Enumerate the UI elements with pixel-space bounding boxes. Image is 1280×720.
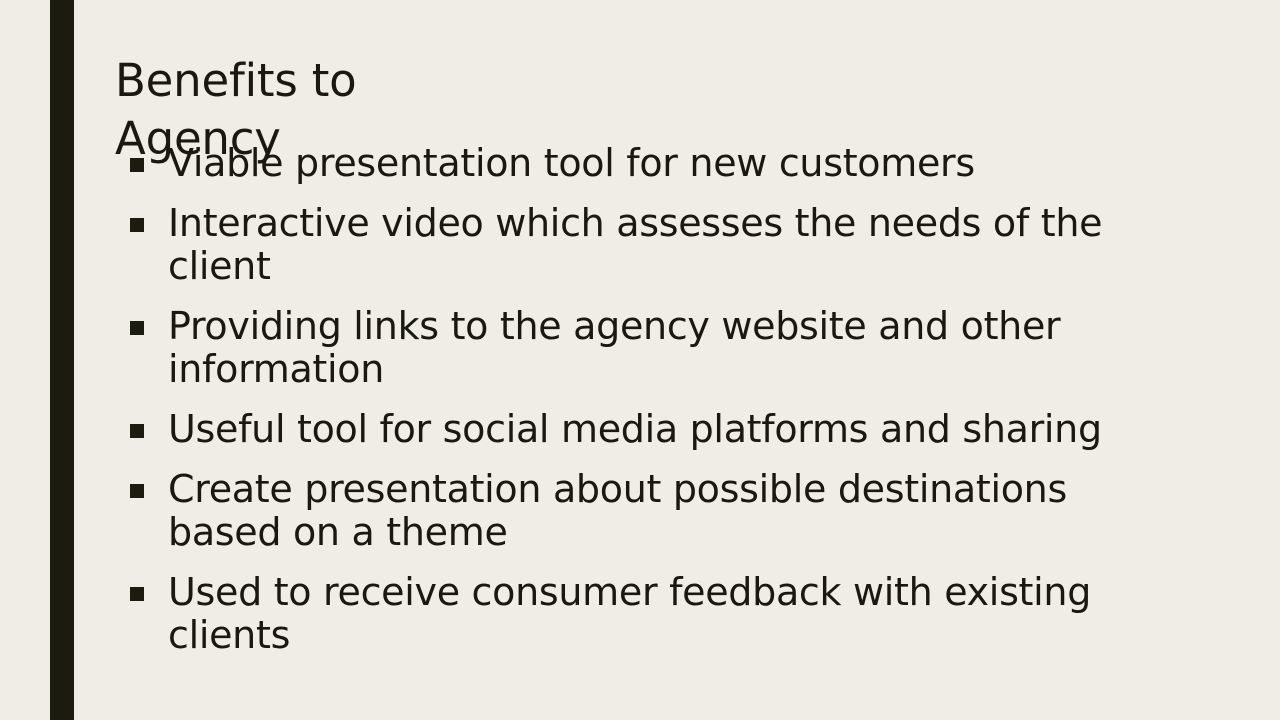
- list-item-text: Viable presentation tool for new custome…: [168, 142, 1188, 185]
- square-bullet-icon: [130, 587, 144, 601]
- bullet-list: Viable presentation tool for new custome…: [128, 142, 1188, 657]
- square-bullet-icon: [130, 484, 144, 498]
- list-item-text: Used to receive consumer feedback with e…: [168, 571, 1188, 657]
- square-bullet-icon: [130, 424, 144, 438]
- list-item: Providing links to the agency website an…: [128, 305, 1188, 391]
- list-item: Used to receive consumer feedback with e…: [128, 571, 1188, 657]
- list-item-text: Interactive video which assesses the nee…: [168, 202, 1188, 288]
- list-item: Useful tool for social media platforms a…: [128, 408, 1188, 451]
- list-item: Viable presentation tool for new custome…: [128, 142, 1188, 185]
- list-item-text: Useful tool for social media platforms a…: [168, 408, 1188, 451]
- presentation-slide: Benefits to Agency Viable presentation t…: [0, 0, 1280, 720]
- square-bullet-icon: [130, 321, 144, 335]
- list-item-text: Providing links to the agency website an…: [168, 305, 1188, 391]
- list-item: Create presentation about possible desti…: [128, 468, 1188, 554]
- list-item-text: Create presentation about possible desti…: [168, 468, 1188, 554]
- square-bullet-icon: [130, 218, 144, 232]
- square-bullet-icon: [130, 158, 144, 172]
- list-item: Interactive video which assesses the nee…: [128, 202, 1188, 288]
- accent-bar: [50, 0, 74, 720]
